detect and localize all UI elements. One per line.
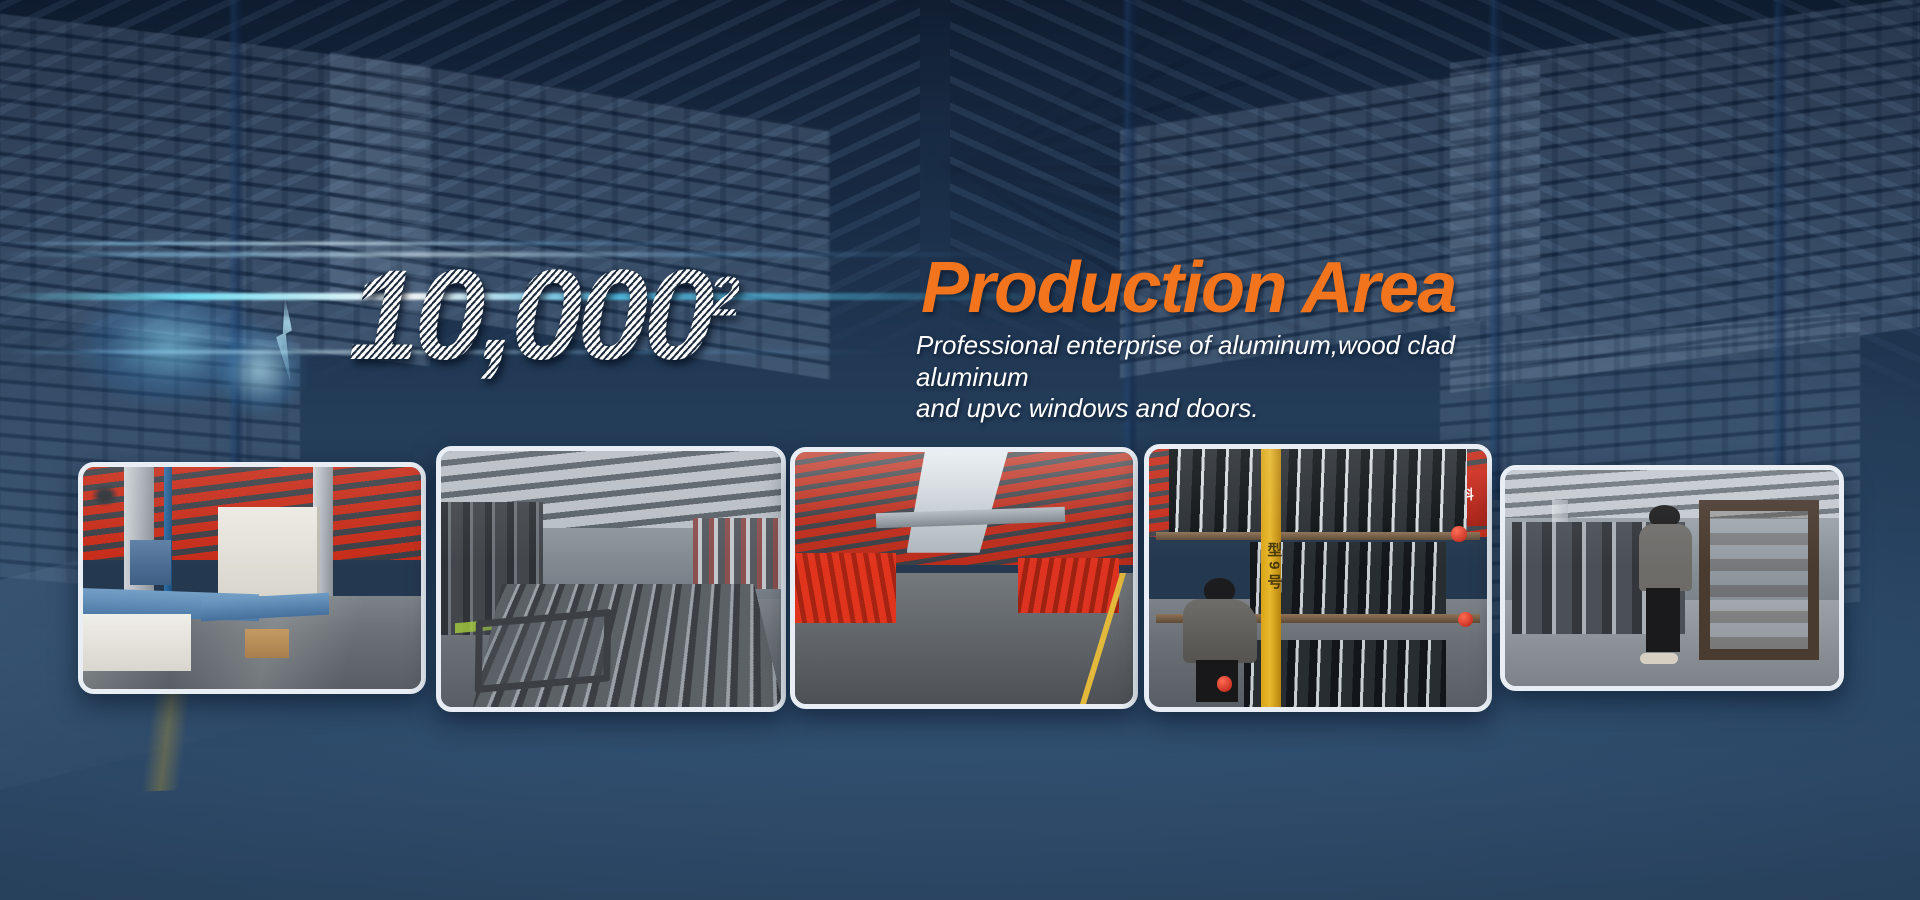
worker-torso	[1183, 599, 1257, 663]
aluminum-window-frame	[475, 609, 612, 693]
thumb-photo: 开 料 型 9 号	[1149, 449, 1487, 707]
yellow-rack-post: 型 9 号	[1261, 449, 1281, 707]
gallery-thumb-red-storage-corridor[interactable]	[790, 447, 1138, 709]
worker-figure	[1639, 505, 1692, 665]
production-area-photo-strip: 开 料 型 9 号	[0, 0, 1920, 900]
thumb-photo	[83, 467, 421, 689]
rack-post-label: 型 9 号	[1263, 542, 1284, 589]
material-racks	[693, 518, 781, 590]
control-cabinet	[130, 540, 171, 584]
banner-stage: 10,0002 10,0002 Production Area Professi…	[0, 0, 1920, 900]
rack-shelf-bar	[1156, 532, 1480, 541]
red-stored-frames-right	[1018, 558, 1119, 613]
red-marker-ball	[1451, 526, 1467, 542]
wood-grain-door-frame	[1699, 500, 1819, 660]
gallery-thumb-door-frame-inspection[interactable]	[1500, 465, 1844, 691]
red-stored-frames-left	[795, 553, 896, 624]
cardboard-box	[245, 629, 289, 658]
gallery-thumb-cnc-cutting-line[interactable]	[78, 462, 426, 694]
red-marker-ball	[1217, 676, 1233, 692]
ceiling-fan-icon	[86, 480, 123, 511]
worker-torso	[1639, 524, 1692, 591]
worker-legs	[1646, 588, 1680, 652]
thumb-photo	[441, 451, 781, 707]
worker-shoe	[1640, 653, 1678, 664]
thumb-photo	[1505, 470, 1839, 686]
aluminum-profiles-top-shelf	[1169, 449, 1466, 537]
gallery-thumb-frame-assembly-line[interactable]	[436, 446, 786, 712]
machine-cabinet	[83, 614, 191, 672]
thumb-photo	[795, 452, 1133, 704]
gallery-thumb-profile-rack-worker[interactable]: 开 料 型 9 号	[1144, 444, 1492, 712]
